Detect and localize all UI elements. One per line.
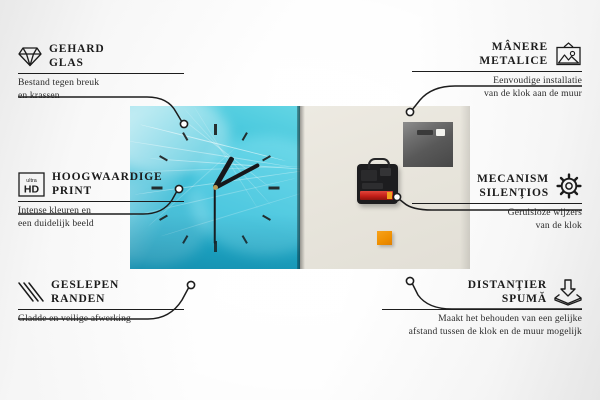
clock-center-hub <box>213 185 218 190</box>
callout-rule <box>412 71 582 72</box>
callout-geslepen-randen: GESLEPEN RANDEN Gladde en veilige afwerk… <box>18 278 188 326</box>
callout-subtitle: Intense kleuren en een duidelijk beeld <box>18 205 188 231</box>
clock-tick <box>182 235 188 244</box>
battery <box>360 191 393 200</box>
svg-text:HD: HD <box>24 183 40 195</box>
diagonal-lines-icon <box>18 281 44 303</box>
callout-rule <box>18 201 184 202</box>
clock-second-hand <box>214 188 216 244</box>
callout-title-line: SPUMĂ <box>502 293 547 305</box>
callout-subtitle: Bestand tegen breuk en krassen <box>18 77 188 103</box>
callout-rule <box>18 309 184 310</box>
callout-title-line: GESLEPEN <box>51 279 119 291</box>
product-feature-infographic: GEHARD GLAS Bestand tegen breuk en krass… <box>0 0 600 400</box>
callout-title-line: MÂNERE <box>492 41 548 53</box>
diamond-icon <box>18 46 42 67</box>
callout-subtitle: Maakt het behouden van een gelijke afsta… <box>382 313 582 339</box>
callout-distantier-spuma: DISTANŢIER SPUMĂ Maakt het behouden van … <box>382 278 582 339</box>
callout-title-line: HOOGWAARDIGE <box>52 171 163 183</box>
gear-icon <box>556 173 582 199</box>
callout-title-line: DISTANŢIER <box>468 279 547 291</box>
metal-hanger <box>403 122 453 167</box>
callout-gehard-glas: GEHARD GLAS Bestand tegen breuk en krass… <box>18 42 188 103</box>
callout-title-line: METALICE <box>479 55 548 67</box>
callout-title-line: GLAS <box>49 57 84 69</box>
callout-title-line: MECANISM <box>477 173 549 185</box>
callout-rule <box>18 73 184 74</box>
callout-title-line: RANDEN <box>51 293 105 305</box>
callout-title-line: PRINT <box>52 185 92 197</box>
callout-subtitle: Eenvoudige installatie van de klok aan d… <box>412 75 582 101</box>
down-arrow-pad-icon <box>554 279 582 305</box>
ultra-hd-icon: ultra HD <box>18 172 45 197</box>
callout-subtitle: Geruisloze wijzers van de klok <box>412 207 582 233</box>
clock-tick <box>214 124 217 135</box>
clock-tick <box>262 214 271 220</box>
callout-title-line: GEHARD <box>49 43 105 55</box>
callout-hoogwaardige-print: ultra HD HOOGWAARDIGE PRINT Intense kleu… <box>18 170 188 231</box>
clock-tick <box>268 186 279 189</box>
callout-rule <box>412 203 582 204</box>
picture-hook-icon <box>555 42 582 67</box>
callout-title-line: SILENŢIOS <box>479 187 549 199</box>
callout-subtitle: Gladde en veilige afwerking <box>18 313 188 326</box>
callout-manere-metalice: MÂNERE METALICE Eenvoudige installatie v… <box>412 40 582 101</box>
clock-tick <box>242 235 248 244</box>
callout-mecanism-silentios: MECANISM SILENŢIOS <box>412 172 582 233</box>
foam-spacer <box>377 231 392 245</box>
callout-rule <box>382 309 582 310</box>
clock-tick <box>214 241 217 252</box>
quartz-mechanism <box>357 164 398 204</box>
